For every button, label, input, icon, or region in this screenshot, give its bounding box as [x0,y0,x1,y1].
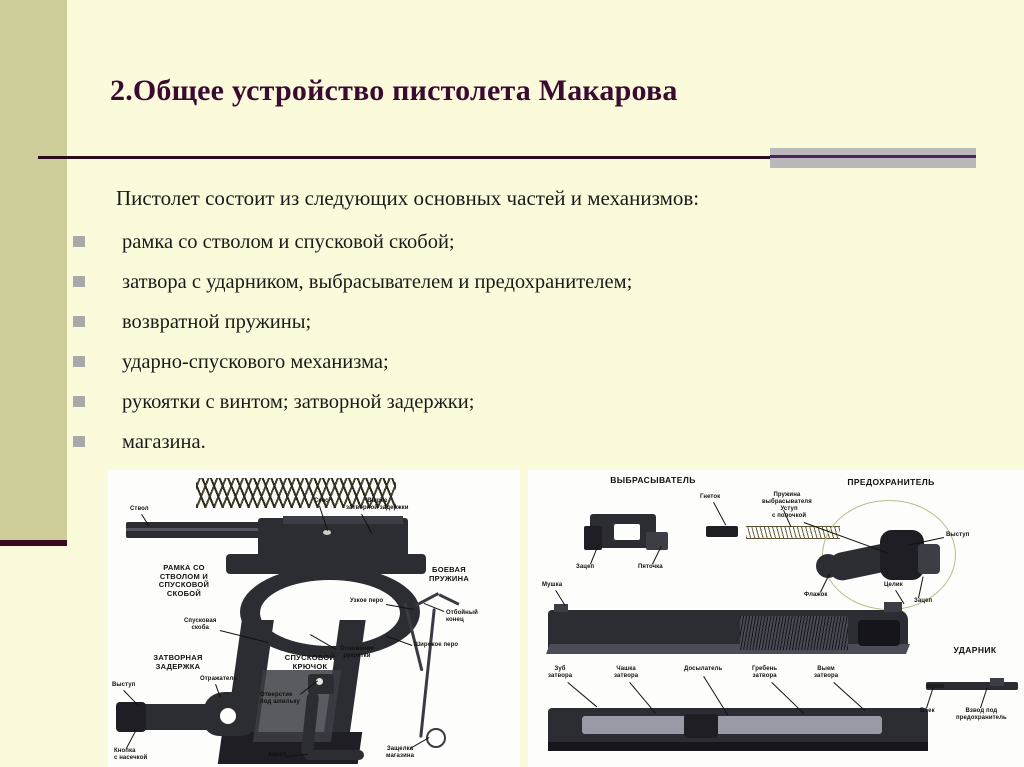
leader-line-plunger [713,502,726,525]
mainspring-shape [419,608,436,738]
label-safety-flag: Флажок [804,592,828,599]
label-pin-hole: Отверстие под шпильку [260,692,300,706]
label-slide-cup: Чашка затвора [614,666,638,680]
caption-slide-stop: ЗАТВОРНАЯ ЗАДЕРЖКА [126,654,230,671]
extractor-heel-shape [646,532,668,550]
intro-text: Пистолет состоит из следующих основных ч… [116,186,916,211]
header-accent-bar [770,148,976,168]
label-slide-stop-notch: Вырез затворной задержки [346,498,408,512]
striker-tip-shape [926,684,944,688]
label-bevel: Скос [314,498,329,505]
caption-safety: ПРЕДОХРАНИТЕЛЬ [816,478,966,488]
parts-list: рамка со стволом и спусковой скобой; зат… [68,222,948,462]
list-item: затвора с ударником, выбрасывателем и пр… [68,262,948,302]
list-item-label: возвратной пружины; [122,311,311,333]
label-recoil-end: Отбойный конец [446,610,478,624]
header-accent-line [770,155,976,158]
label-feed-ramp: Досылатель [684,666,722,673]
mainspring-tip [438,593,459,605]
list-item-label: рукоятки с винтом; затворной задержки; [122,391,474,413]
label-knurled-button: Кнопка с насечкой [114,748,147,762]
label-plunger: Гнеток [700,494,720,501]
striker-cocking-notch [990,678,1004,686]
frame-rail-shape [283,516,403,524]
list-item: возвратной пружины; [68,302,948,342]
leader-line-slide-notch [833,682,865,711]
slide-lower-channel [582,716,882,734]
label-extractor-spring: Пружина выбрасывателя [762,492,812,506]
label-safety-ledge: Уступ с полочкой [772,506,806,520]
left-band-bottom-rule [0,540,67,546]
bullet-square-icon [73,436,85,447]
caption-mainspring: БОЕВАЯ ПРУЖИНА [404,566,494,583]
list-item-label: рамка со стволом и спусковой скобой; [122,231,455,253]
label-slide-comb: Гребень затвора [752,666,777,680]
figure-frame-diagram: Ствол Скос Вырез затворной задержки РАМК… [108,470,520,767]
label-lug: Выступ [112,682,135,689]
bullet-square-icon [73,236,85,247]
extractor-notch [614,524,640,540]
label-extractor-heel: Пяточка [638,564,663,571]
front-sight-shape [554,604,568,612]
caption-striker: УДАРНИК [930,646,1020,656]
label-firing-pin: Боек [920,708,935,715]
list-item: магазина. [68,422,948,462]
label-trigger-guard: Спусковая скоба [184,618,216,632]
bullet-square-icon [73,396,85,407]
list-item-label: магазина. [122,431,206,453]
label-trigger-tail: Хвост [268,752,286,759]
figure-slide-diagram: ВЫБРАСЫВАТЕЛЬ Гнеток Пружина выбрасывате… [528,470,1024,767]
label-wide-leaf: Широкое перо [414,642,458,649]
leader-line-knurled-button [126,730,136,748]
slide-lower-rim [548,742,928,751]
caption-extractor: ВЫБРАСЫВАТЕЛЬ [578,476,728,486]
figures-row: Ствол Скос Вырез затворной задержки РАМК… [108,470,1024,767]
trigger-bow-shape [304,750,364,760]
label-ejector: Отражатель [200,676,237,683]
label-narrow-leaf: Узкое перо [350,598,383,605]
label-extractor-claw: Зацеп [576,564,594,571]
leader-line-firing-pin [926,687,934,708]
slide-serrations [740,616,848,650]
slide-canvas: 2.Общее устройство пистолета Макарова Пи… [0,0,1024,767]
plunger-shape [706,526,738,537]
slide-breech-face [684,714,718,738]
trigger-guard-hole [260,580,400,646]
list-item-label: затвора с ударником, выбрасывателем и пр… [122,271,632,293]
label-rear-sight: Целик [884,582,903,589]
safety-lug-shape [918,544,940,574]
caption-frame: РАМКА СО СТВОЛОМ И СПУСКОВОЙ СКОБОЙ [130,564,238,599]
slide-stop-hole [220,708,236,724]
extractor-hook-shape [584,526,602,550]
slide-ejection-port [858,620,900,646]
label-front-sight: Мушка [542,582,562,589]
slide-stop-knob [116,702,146,732]
caption-trigger: СПУСКОВОЙ КРЮЧОК [258,654,362,671]
bullet-square-icon [73,356,85,367]
bullet-square-icon [73,316,85,327]
label-safety-lug: Выступ [946,532,969,539]
label-slide-notch: Выем затвора [814,666,838,680]
leader-line-slide-tooth [567,682,597,707]
page-title: 2.Общее устройство пистолета Макарова [110,74,930,108]
label-slide-tooth: Зуб затвора [548,666,572,680]
left-decorative-band [0,0,67,540]
label-barrel: Ствол [130,506,149,513]
leader-line-striker-cocking [980,687,988,708]
list-item: ударно-спускового механизма; [68,342,948,382]
slide-upper-bevel [546,644,910,654]
list-item: рукоятки с винтом; затворной задержки; [68,382,948,422]
label-striker-cocking: Взвод под предохранитель [956,708,1007,722]
bullet-square-icon [73,276,85,287]
rear-sight-shape [884,602,902,612]
list-item: рамка со стволом и спусковой скобой; [68,222,948,262]
label-safety-catch: Зацеп [914,598,932,605]
list-item-label: ударно-спускового механизма; [122,351,389,373]
